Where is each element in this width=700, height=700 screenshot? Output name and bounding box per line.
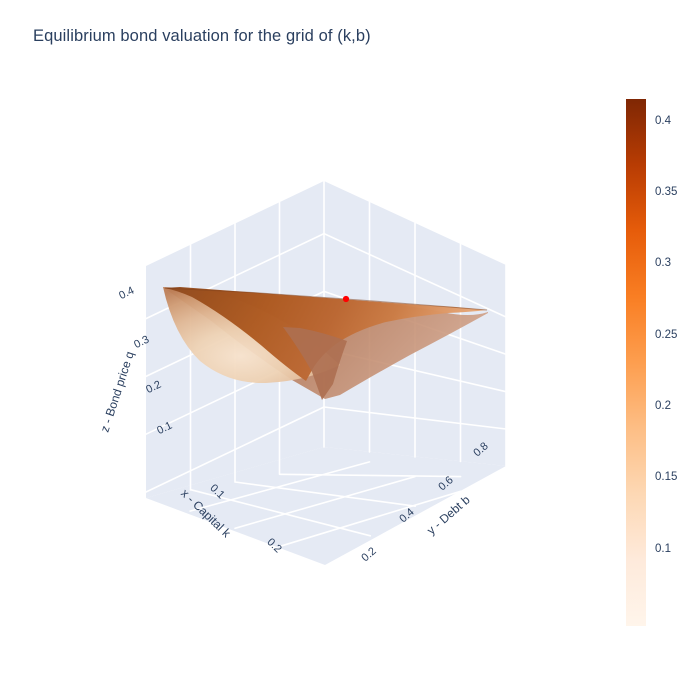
colorbar-tick-0.3: 0.3 bbox=[655, 257, 671, 269]
colorbar-tick-0.15: 0.15 bbox=[655, 471, 677, 483]
colorbar-ticks: 0.4 0.35 0.3 0.25 0.2 0.15 0.1 bbox=[655, 115, 677, 555]
colorbar-tick-0.25: 0.25 bbox=[655, 329, 677, 341]
colorbar-tick-0.1: 0.1 bbox=[655, 543, 671, 555]
plot-root: Equilibrium bond valuation for the grid … bbox=[0, 0, 700, 700]
colorbar-tick-0.2: 0.2 bbox=[655, 400, 671, 412]
colorbar[interactable]: 0.4 0.35 0.3 0.25 0.2 0.15 0.1 bbox=[0, 0, 700, 700]
colorbar-tick-0.4: 0.4 bbox=[655, 115, 672, 127]
colorbar-tick-0.35: 0.35 bbox=[655, 186, 677, 198]
colorbar-gradient-bar[interactable] bbox=[626, 99, 646, 626]
